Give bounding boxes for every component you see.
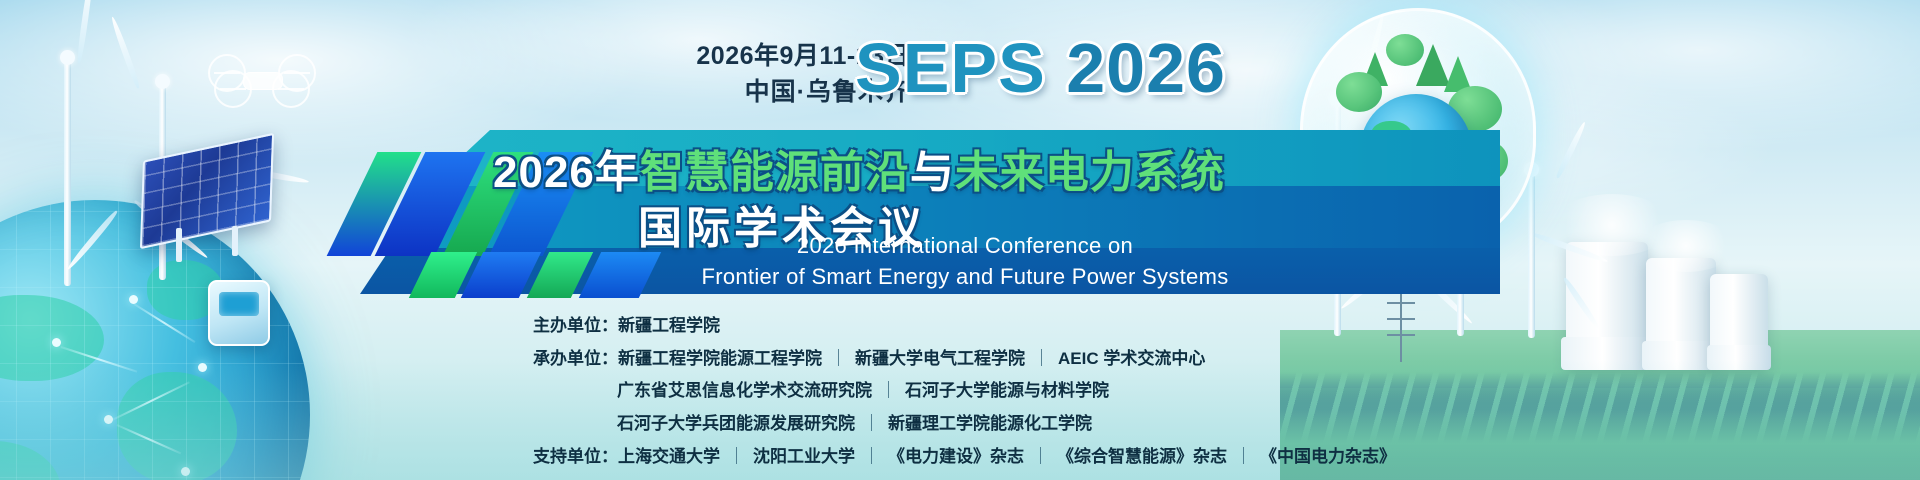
- drone-icon: [208, 52, 316, 108]
- title-green-a: 智慧能源前沿: [640, 148, 910, 197]
- bush-icon: [1386, 34, 1424, 66]
- organizer-value: 新疆大学电气工程学院: [855, 349, 1025, 368]
- ev-charger-icon: [208, 280, 270, 346]
- support-value: 《综合智慧能源》杂志: [1057, 447, 1227, 466]
- host-value: 新疆工程学院: [618, 316, 720, 335]
- title-white-b: 与: [910, 148, 955, 197]
- separator: ｜: [855, 408, 888, 441]
- conference-banner: 2026年9月11-13日 中国·乌鲁木齐 SEPS 2026 2026年智慧能…: [0, 0, 1920, 480]
- host-row: 主办单位：新疆工程学院: [533, 310, 1396, 343]
- organizer-value: 石河子大学兵团能源发展研究院: [617, 414, 855, 433]
- title-chinese-line1: 2026年智慧能源前沿与未来电力系统: [493, 136, 1225, 200]
- wind-turbine-icon: [62, 56, 72, 286]
- title-green-b: 未来电力系统: [955, 148, 1225, 197]
- organizer-row-1: 承办单位：新疆工程学院能源工程学院｜新疆大学电气工程学院｜AEIC 学术交流中心: [533, 343, 1396, 376]
- support-value: 沈阳工业大学: [753, 447, 855, 466]
- title-year: 2026年: [493, 148, 640, 197]
- cooling-tower-icon: [1646, 258, 1716, 370]
- support-label: 支持单位：: [533, 441, 618, 474]
- organizer-value: 广东省艾思信息化学术交流研究院: [617, 381, 872, 400]
- separator: ｜: [855, 441, 888, 474]
- chevron-graphic-lower: [420, 252, 690, 298]
- separator: ｜: [1227, 441, 1260, 474]
- organizer-value: AEIC 学术交流中心: [1058, 349, 1205, 368]
- organizer-value: 新疆工程学院能源工程学院: [618, 349, 822, 368]
- organizers-block: 主办单位：新疆工程学院 承办单位：新疆工程学院能源工程学院｜新疆大学电气工程学院…: [533, 310, 1396, 473]
- separator: ｜: [720, 441, 753, 474]
- bush-icon: [1336, 72, 1382, 112]
- organizer-label: 承办单位：: [533, 343, 618, 376]
- support-value: 《中国电力杂志》: [1260, 447, 1396, 466]
- organizer-value: 新疆理工学院能源化工学院: [888, 414, 1092, 433]
- separator: ｜: [872, 375, 905, 408]
- separator: ｜: [822, 343, 855, 376]
- logo-year: 2026: [1066, 29, 1226, 107]
- support-value: 《电力建设》杂志: [888, 447, 1024, 466]
- separator: ｜: [1024, 441, 1057, 474]
- organizer-row-3: 石河子大学兵团能源发展研究院｜新疆理工学院能源化工学院: [533, 408, 1396, 441]
- separator: ｜: [1025, 343, 1058, 376]
- logo-abbr: SEPS: [855, 29, 1046, 107]
- support-value: 上海交通大学: [618, 447, 720, 466]
- host-label: 主办单位：: [533, 310, 618, 343]
- organizer-value: 石河子大学能源与材料学院: [905, 381, 1109, 400]
- organizer-row-2: 广东省艾思信息化学术交流研究院｜石河子大学能源与材料学院: [533, 375, 1396, 408]
- cooling-tower-icon: [1710, 274, 1768, 370]
- seps-logo: SEPS 2026: [855, 28, 1226, 108]
- support-row: 支持单位：上海交通大学｜沈阳工业大学｜《电力建设》杂志｜《综合智慧能源》杂志｜《…: [533, 441, 1396, 474]
